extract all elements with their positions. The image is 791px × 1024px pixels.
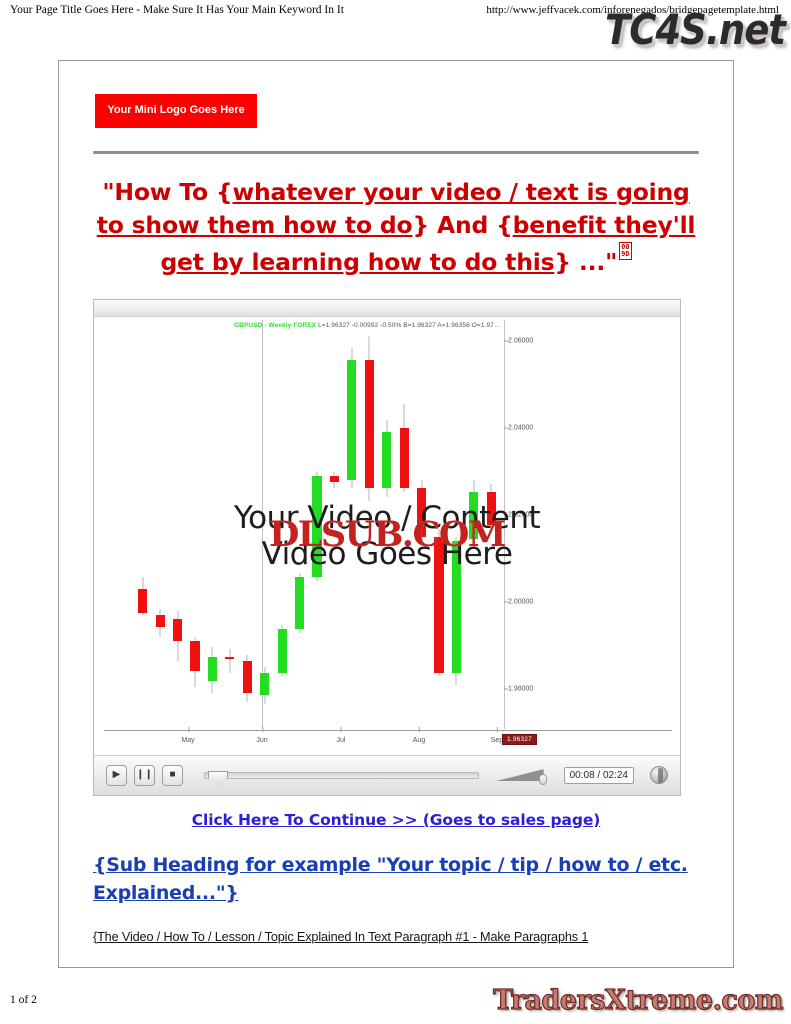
chart-title: GBPUSD - Weekly FOREX L=1.96327 -0.00992…: [234, 322, 500, 329]
headline-part-2: } And {: [412, 211, 512, 239]
sub-heading: {Sub Heading for example "Your topic / t…: [93, 851, 699, 908]
candlestick: [330, 472, 339, 488]
chart-x-tick: May: [181, 737, 194, 744]
pause-button[interactable]: ❙❙: [134, 765, 155, 786]
chart-stats-label: L=1.96327 -0.00992 -0.50% B=1.96327 A=1.…: [318, 322, 500, 329]
candlestick: [347, 348, 356, 489]
candlestick: [243, 655, 252, 701]
stop-button[interactable]: ■: [162, 765, 183, 786]
video-player[interactable]: GBPUSD - Weekly FOREX L=1.96327 -0.00992…: [93, 299, 681, 796]
candlestick-body: [400, 428, 409, 488]
chart-y-tick: 1.98000: [508, 685, 533, 692]
mini-logo-placeholder: Your Mini Logo Goes Here: [95, 94, 257, 128]
time-display: 00:08 / 02:24: [564, 767, 634, 784]
candlestick-body: [243, 661, 252, 693]
volume-slider[interactable]: [496, 765, 548, 785]
dlsub-watermark-text: DLSUB.COM: [269, 514, 505, 555]
candlestick: [382, 420, 391, 496]
seek-track[interactable]: [204, 772, 479, 779]
header-divider: [93, 151, 699, 154]
candlestick-body: [138, 589, 147, 613]
page-headline: "How To {whatever your video / text is g…: [93, 176, 699, 279]
candlestick-body: [190, 641, 199, 671]
candlestick-body: [156, 615, 165, 627]
print-header-document-title: Your Page Title Goes Here - Make Sure It…: [10, 4, 344, 16]
headline-part-3: } ...": [554, 248, 617, 276]
candlestick: [295, 573, 304, 633]
seek-bar[interactable]: [204, 772, 479, 779]
print-header: Your Page Title Goes Here - Make Sure It…: [0, 0, 791, 26]
candlestick: [156, 609, 165, 637]
page-number: 1 of 2: [10, 994, 37, 1006]
candlestick: [260, 667, 269, 703]
candlestick-body: [278, 629, 287, 673]
volume-ramp-icon: [496, 769, 544, 781]
print-header-url: http://www.jeffvacek.com/inforenegados/b…: [486, 4, 779, 16]
chart-x-tick: Jul: [337, 737, 346, 744]
headline-part-1: "How To {: [102, 178, 232, 206]
play-icon: ▶: [113, 770, 121, 780]
tradersxtreme-logo: TradersXtreme.com: [493, 985, 783, 1016]
candlestick: [400, 404, 409, 492]
player-stage[interactable]: GBPUSD - Weekly FOREX L=1.96327 -0.00992…: [94, 318, 680, 755]
candlestick: [208, 647, 217, 693]
candlestick-body: [382, 432, 391, 488]
stop-icon: ■: [169, 770, 175, 780]
control-character-box: 009D: [619, 242, 631, 260]
chart-price-marker: 1.96327: [502, 734, 537, 745]
candlestick-body: [225, 657, 234, 659]
seek-handle[interactable]: [208, 771, 228, 785]
play-button[interactable]: ▶: [106, 765, 127, 786]
candlestick-body: [347, 360, 356, 481]
candlestick: [190, 637, 199, 687]
chart-x-tick: Aug: [413, 737, 425, 744]
candlestick-body: [208, 657, 217, 681]
chart-symbol-label: GBPUSD - Weekly FOREX: [234, 322, 316, 329]
candlestick-body: [295, 577, 304, 629]
candlestick: [365, 336, 374, 501]
chart-x-tick: Jun: [256, 737, 267, 744]
chart-y-tick: 2.04000: [508, 424, 533, 431]
chart-x-axis: [104, 730, 672, 731]
player-title-bar: [94, 300, 680, 317]
candlestick-wick: [229, 649, 230, 673]
control-char-bottom: 9D: [621, 251, 629, 258]
candlestick: [278, 625, 287, 677]
candlestick: [225, 649, 234, 673]
body-paragraph: {The Video / How To / Lesson / Topic Exp…: [93, 930, 699, 944]
settings-icon[interactable]: [650, 766, 668, 784]
candlestick-body: [260, 673, 269, 695]
candlestick-body: [330, 476, 339, 482]
candlestick-body: [173, 619, 182, 641]
volume-knob[interactable]: [539, 774, 547, 785]
continue-link[interactable]: Click Here To Continue >> (Goes to sales…: [93, 811, 699, 829]
print-footer: 1 of 2 TradersXtreme.com: [0, 968, 791, 1024]
document-page: Your Mini Logo Goes Here "How To {whatev…: [58, 60, 734, 968]
candlestick: [138, 577, 147, 615]
candlestick-body: [365, 360, 374, 489]
player-controls[interactable]: ▶ ❙❙ ■ 00:08 / 02:24: [94, 755, 680, 795]
dlsub-watermark: DLSUB.COM: [269, 514, 505, 555]
pause-icon: ❙❙: [136, 770, 153, 780]
chart-y-tick: 2.06000: [508, 337, 533, 344]
chart-y-tick: 2.00000: [508, 598, 533, 605]
candlestick: [173, 611, 182, 661]
